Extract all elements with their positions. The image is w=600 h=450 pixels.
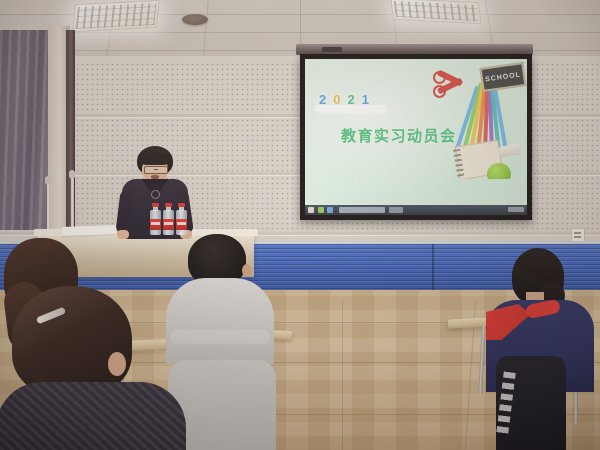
student-ear <box>108 352 126 376</box>
green-apple <box>487 163 511 179</box>
mic-stem <box>71 176 74 230</box>
bottle-label-stripe <box>164 222 173 225</box>
windows-taskbar[interactable] <box>305 205 527 215</box>
eraser <box>498 143 522 158</box>
presenter-hand-left <box>117 230 129 239</box>
water-bottle <box>163 203 174 235</box>
slide-canvas: SCHOOL 2021 教育实习动员会 <box>305 59 527 215</box>
mic-head-icon <box>45 176 51 185</box>
documents-on-podium <box>62 225 116 236</box>
projection-screen[interactable]: SCHOOL 2021 教育实习动员会 <box>300 54 532 220</box>
bottle-label-stripe <box>151 222 160 225</box>
mic-head-icon <box>69 170 75 179</box>
outlet-slot <box>574 236 581 238</box>
glasses-icon <box>144 166 168 174</box>
student-hair <box>12 286 132 396</box>
light-grill <box>76 3 157 29</box>
slide-year-digit: 2 <box>319 92 333 107</box>
classroom-photo: SCHOOL 2021 教育实习动员会 <box>0 0 600 450</box>
taskbar-app-icon[interactable] <box>318 207 324 213</box>
water-bottle <box>150 203 161 235</box>
mic-stem <box>47 182 50 230</box>
bottle-label <box>150 219 161 230</box>
taskbar-app-icon[interactable] <box>327 207 333 213</box>
floor-tile-seam <box>342 300 343 450</box>
slide-year-digit: 2 <box>347 92 361 107</box>
student-left-front <box>12 286 222 450</box>
scissors-handle <box>433 71 446 84</box>
bottle-label-stripe <box>177 222 186 225</box>
light-grill <box>394 1 479 21</box>
presenter-bangs <box>138 153 172 165</box>
taskbar-window-button[interactable] <box>389 207 403 213</box>
taskbar-window-button[interactable] <box>339 207 385 213</box>
notebook-spiral <box>453 149 464 178</box>
scissors-handle <box>433 85 446 98</box>
slide-supplies-graphic: SCHOOL <box>431 59 527 179</box>
student-ear <box>242 264 252 277</box>
water-bottle <box>176 203 187 235</box>
screen-roller-tab <box>322 47 342 52</box>
slide-year-digit: 1 <box>362 92 376 107</box>
bottle-label <box>163 219 174 230</box>
start-button-icon[interactable] <box>308 207 314 213</box>
slide-year-digit: 0 <box>333 92 347 107</box>
wainscot-seam <box>432 244 434 294</box>
bottle-label <box>176 219 187 230</box>
ceiling-light-panel-left <box>72 0 160 32</box>
slide-title: 教育实习动员会 <box>341 125 457 146</box>
school-chalkboard-sign: SCHOOL <box>480 62 527 92</box>
student-torso <box>0 382 186 450</box>
taskbar-clock[interactable] <box>508 207 524 212</box>
outlet-slot <box>574 232 581 234</box>
slide-year: 2021 <box>319 92 376 107</box>
necklace <box>151 190 160 199</box>
ceiling-speaker-icon <box>182 14 208 25</box>
